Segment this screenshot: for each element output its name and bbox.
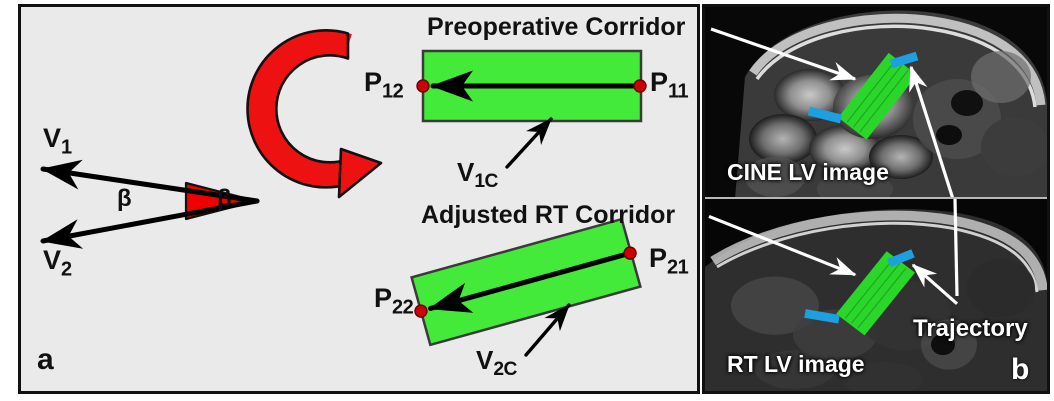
point-label-p22: P22 <box>374 285 413 317</box>
adjusted-corridor-title: Adjusted RT Corridor <box>421 203 675 228</box>
figure-root: V1 V2 β β Preoperative Corridor P12 P11 … <box>0 0 1054 401</box>
mri-image-cine-lv: CINE LV image <box>705 7 1047 199</box>
vector-label-v1c: V1C <box>457 159 498 191</box>
vector-label-v2: V2 <box>43 247 72 279</box>
vector-label-v2c: V2C <box>476 347 517 379</box>
point-marker-p12 <box>417 80 429 92</box>
preoperative-corridor <box>417 51 646 167</box>
annotation-label-trajectory: Trajectory <box>913 315 1028 343</box>
vector-label-v1: V1 <box>43 125 72 157</box>
caption-cine-lv: CINE LV image <box>727 159 889 186</box>
angle-label-beta-left: β <box>117 187 132 211</box>
point-label-p11: P11 <box>650 69 688 101</box>
leader-v1c <box>507 119 551 167</box>
panel-a-letter: a <box>37 345 54 375</box>
trajectory-marker-rt-proximal <box>805 313 839 319</box>
preoperative-corridor-title: Preoperative Corridor <box>427 15 685 40</box>
caption-rt-lv: RT LV image <box>727 351 865 378</box>
panel-b: CINE LV image <box>702 4 1050 394</box>
adjusted-rt-corridor <box>406 218 645 347</box>
angle-label-beta-rotation: β <box>217 187 232 211</box>
mri-image-rt-lv: RT LV image <box>705 199 1047 391</box>
panel-a: V1 V2 β β Preoperative Corridor P12 P11 … <box>18 4 700 394</box>
annotation-arrow-trajectory-rt-upper <box>955 199 957 296</box>
point-label-p21: P21 <box>649 245 688 277</box>
panel-b-letter: b <box>1011 353 1029 387</box>
rotation-arrow-beta <box>219 14 381 197</box>
point-label-p12: P12 <box>364 69 403 101</box>
point-marker-p11 <box>634 80 646 92</box>
